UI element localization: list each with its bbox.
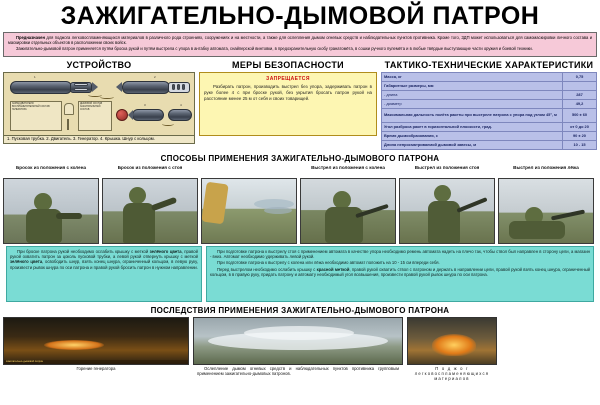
spec-value: от 0 до 20: [563, 122, 597, 131]
device-legend-right: ДЫМОВОЙ СОСТАВ ЗАЖИГАТЕЛЬНЫЙ СОСТАВ: [78, 101, 112, 131]
methods-section-header: СПОСОБЫ ПРИМЕНЕНИЯ ЗАЖИГАТЕЛЬНО-ДЫМОВОГО…: [0, 154, 600, 163]
table-row: Максимальная дальность полёта ракеты при…: [382, 108, 597, 122]
device-red-cap: [116, 109, 128, 121]
consequence-item-ignition: П о д ж о г легковоспламеняющихся матери…: [407, 317, 497, 382]
specs-section-header: ТАКТИКО-ТЕХНИЧЕСКИЕ ХАРАКТЕРИСТИКИ: [381, 60, 597, 70]
method-note-throw-text: При броске патрона рукой необходимо осла…: [10, 249, 198, 271]
fire-glow: [432, 334, 476, 356]
consequences-section-header: ПОСЛЕДСТВИЯ ПРИМЕНЕНИЯ ЗАЖИГАТЕЛЬНО-ДЫМО…: [0, 306, 600, 315]
device-legend-left: ЗАРЯД ДВИГАТЕЛЯ ВОСПЛАМЕНИТЕЛЬНЫЙ СОСТАВ…: [10, 101, 62, 131]
spec-value: [563, 81, 597, 90]
methods-notes: При броске патрона рукой необходимо осла…: [6, 246, 594, 302]
soldier-helmet: [129, 187, 146, 204]
device-marking-band: [74, 83, 88, 86]
method-caption-5: Выстрел из положения стоя: [399, 165, 495, 178]
spec-value: 90 ± 20: [563, 131, 597, 140]
soldier-helmet: [434, 185, 451, 202]
method-caption-4: Выстрел из положения с колена: [300, 165, 396, 178]
shot-bold: красной меткой: [317, 267, 350, 272]
poster-root: ЗАЖИГАТЕЛЬНО-ДЫМОВОЙ ПАТРОН Предназначен…: [0, 0, 600, 405]
table-row: Угол разброса ракет в горизонтальной пло…: [382, 122, 597, 131]
page-title: ЗАЖИГАТЕЛЬНО-ДЫМОВОЙ ПАТРОН: [0, 0, 600, 30]
device-cord-3: [162, 122, 174, 126]
device-tail-cone: [116, 82, 122, 92]
spec-label: Масса, кг: [382, 72, 563, 81]
spec-value: 10 - 15: [563, 140, 597, 149]
device-launch-tube: [10, 81, 72, 94]
shot-paragraph-2: При подготовке патрона к выстрелу с коле…: [210, 260, 590, 265]
device-nose-cone: [92, 82, 98, 92]
soldier-arm: [56, 213, 82, 219]
spec-label: Длина непросматриваемой дымовой завесы, …: [382, 140, 563, 149]
spec-label: Максимальная дальность полёта ракеты при…: [382, 108, 563, 122]
device-body-right: [122, 81, 170, 94]
intro-paragraph-1: Предназначен для поджога легковоспламеня…: [8, 35, 592, 45]
specs-column: ТАКТИКО-ТЕХНИЧЕСКИЕ ХАРАКТЕРИСТИКИ Масса…: [381, 60, 597, 150]
consequence-photo-burning: зажигательно-дымовой патрон: [3, 317, 189, 365]
consequences-row: зажигательно-дымовой патрон Горение гене…: [3, 317, 597, 382]
consequence-caption-smoke: Ослепление дымом огневых средств и наблю…: [193, 365, 403, 377]
intro-paragraph-1-text: для поджога легковоспламеняющихся матери…: [8, 35, 592, 45]
device-callout-2: 2: [154, 75, 156, 79]
spec-label: Угол разброса ракет в горизонтальной пло…: [382, 122, 563, 131]
smoke-plume-2: [264, 207, 292, 214]
spec-label: - диаметр: [382, 99, 563, 108]
device-generator: [132, 109, 164, 121]
shot-text-a: Перед выстрелом необходимо ослабить крыш…: [217, 267, 317, 272]
soldier-helmet: [34, 193, 52, 211]
table-row: - длина 287: [382, 90, 597, 99]
top-row: УСТРОЙСТВО 1 2: [3, 60, 597, 150]
spec-value: 0,75: [563, 72, 597, 81]
methods-section: Бросок из положения с колена Бросок из п…: [3, 165, 597, 302]
specs-table-body: Масса, кг 0,75 Габаритные размеры, мм - …: [382, 72, 597, 149]
throw-text-a: При броске патрона рукой необходимо осла…: [17, 249, 150, 254]
device-legend-shape-icon: [64, 103, 74, 115]
device-callout-1: 1: [34, 75, 36, 79]
method-note-shot: При подготовке патрона к выстрелу стоя с…: [206, 246, 594, 302]
consequence-ribbon: зажигательно-дымовой патрон: [4, 360, 188, 364]
soldier-body: [325, 207, 363, 243]
device-diagram: 1 2 ЗАРЯД ДВИГАТЕЛЯ ВОСПЛАМЕНИТЕЛЬНЫЙ СО…: [3, 72, 195, 136]
soldier-body: [509, 221, 565, 239]
consequence-item-burning: зажигательно-дымовой патрон Горение гене…: [3, 317, 189, 382]
throw-bold-b: зелёного цвета: [10, 259, 42, 264]
device-cord-2: [100, 95, 114, 99]
table-row: Время дымообразования, с 90 ± 20: [382, 131, 597, 140]
specs-table: Масса, кг 0,75 Габаритные размеры, мм - …: [381, 72, 597, 150]
smoke-screen-2: [244, 326, 354, 340]
methods-photos: [3, 178, 597, 244]
method-photo-smoke-field: [201, 178, 297, 244]
shot-paragraph-1: При подготовке патрона к выстрелу стоя с…: [210, 249, 590, 260]
device-stripe-a: [172, 84, 175, 90]
consequence-photo-ignition: [407, 317, 497, 365]
device-engine: [168, 109, 192, 121]
method-photo-standing-shot: [399, 178, 495, 244]
device-marking-band-2: [74, 88, 88, 91]
device-section-header: УСТРОЙСТВО: [3, 60, 195, 70]
method-caption-1: Бросок из положения с колена: [3, 165, 99, 178]
device-callout-4: 4: [180, 103, 182, 107]
table-row: Длина непросматриваемой дымовой завесы, …: [382, 140, 597, 149]
consequence-caption-burning: Горение генератора: [3, 365, 189, 371]
device-callout-3: 3: [144, 103, 146, 107]
consequence-caption-ignition: П о д ж о г легковоспламеняющихся матери…: [407, 365, 497, 382]
intro-paragraph-2: Зажигательно-дымовой патрон применяется …: [8, 46, 592, 51]
soldier-helmet: [333, 191, 351, 209]
device-generator-cone: [128, 110, 133, 120]
throw-bold-a: зелёного цвета: [150, 249, 182, 254]
table-row: - диаметр 49,2: [382, 99, 597, 108]
method-caption-6: Выстрел из положения лёжа: [498, 165, 594, 178]
safety-section-header: МЕРЫ БЕЗОПАСНОСТИ: [199, 60, 377, 70]
device-column: УСТРОЙСТВО 1 2: [3, 60, 195, 150]
safety-warning-body: Разбирать патрон, производить выстрел бе…: [204, 84, 372, 103]
soldier-body: [428, 201, 460, 243]
method-photo-kneeling-throw: [3, 178, 99, 244]
spec-label: Время дымообразования, с: [382, 131, 563, 140]
methods-captions: Бросок из положения с колена Бросок из п…: [3, 165, 597, 178]
method-caption-3: [201, 165, 297, 178]
method-photo-standing-throw: [102, 178, 198, 244]
intro-description: Предназначен для поджога легковоспламеня…: [3, 32, 597, 57]
device-caption: 1. Пусковая трубка. 2. Двигатель. 3. Ген…: [3, 136, 195, 144]
device-legend-arrow-icon: [67, 119, 69, 130]
soldier-body: [123, 203, 155, 243]
device-stripe-b: [177, 84, 180, 90]
spec-value: 49,2: [563, 99, 597, 108]
spec-label: - длина: [382, 90, 563, 99]
method-photo-kneeling-shot: [300, 178, 396, 244]
consequence-photo-smoke: [193, 317, 403, 365]
device-stripe-c: [182, 84, 185, 90]
method-photo-prone-shot: [498, 178, 594, 244]
consequence-item-smoke: Ослепление дымом огневых средств и наблю…: [193, 317, 403, 382]
safety-column: МЕРЫ БЕЗОПАСНОСТИ ЗАПРЕЩАЕТСЯ Разбирать …: [199, 60, 377, 150]
safety-warning-title: ЗАПРЕЩАЕТСЯ: [204, 76, 372, 82]
table-row: Габаритные размеры, мм: [382, 81, 597, 90]
spec-label: Габаритные размеры, мм: [382, 81, 563, 90]
table-row: Масса, кг 0,75: [382, 72, 597, 81]
flame-glow: [44, 340, 104, 350]
safety-warning-box: ЗАПРЕЩАЕТСЯ Разбирать патрон, производит…: [199, 72, 377, 136]
method-caption-2: Бросок из положения с стоя: [102, 165, 198, 178]
spec-value: 500 ± 60: [563, 108, 597, 122]
spec-value: 287: [563, 90, 597, 99]
method-note-throw: При броске патрона рукой необходимо осла…: [6, 246, 202, 302]
shot-paragraph-3: Перед выстрелом необходимо ослабить крыш…: [210, 267, 590, 278]
